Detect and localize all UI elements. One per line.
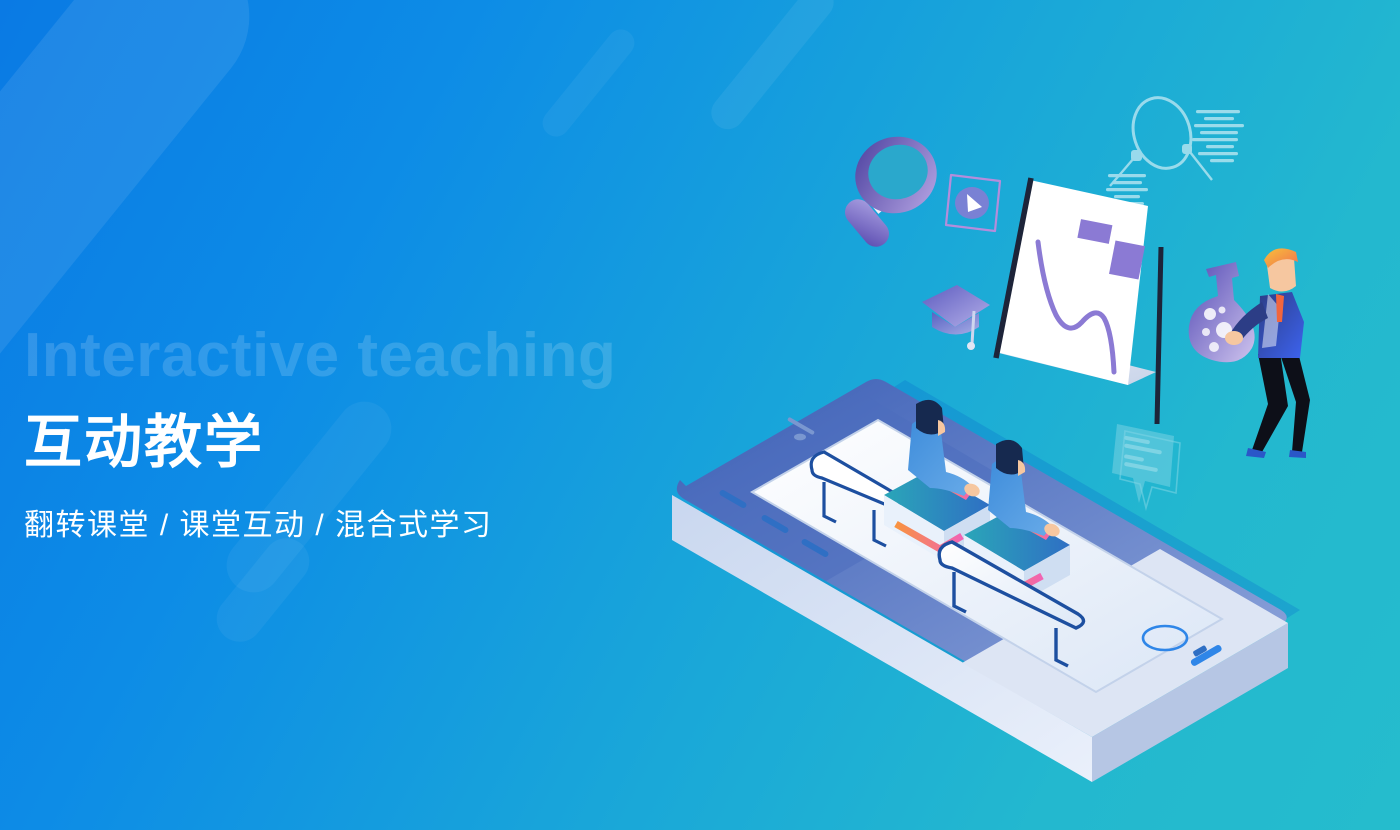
whiteboard-easel: [995, 178, 1161, 424]
page-subtitle: 翻转课堂 / 课堂互动 / 混合式学习: [24, 500, 744, 544]
chat-bubble-icon: [1112, 424, 1180, 508]
page-title: 互动教学: [24, 413, 744, 474]
ghost-title: Interactive teaching: [24, 325, 744, 387]
network-node-icon: [1106, 90, 1244, 212]
magnifier-icon: [840, 126, 947, 252]
flask-icon: [1189, 262, 1255, 362]
graduation-cap-icon: [922, 285, 990, 350]
text-block: Interactive teaching 互动教学 翻转课堂 / 课堂互动 / …: [24, 325, 744, 544]
play-video-icon: [946, 175, 1000, 231]
hero-banner: Interactive teaching 互动教学 翻转课堂 / 课堂互动 / …: [0, 0, 1400, 830]
